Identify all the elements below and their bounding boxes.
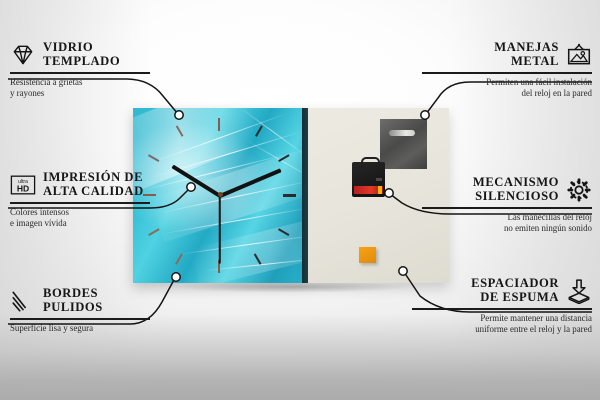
feature-espaciador-espuma: ESPACIADOR DE ESPUMA Permite mantener un… [412,277,592,335]
feature-mecanismo-silencioso: MECANISMO SILENCIOSO Las manecillas del … [422,176,592,234]
feature-title: ESPACIADOR DE ESPUMA [471,277,559,304]
feature-bordes-pulidos: BORDES PULIDOS Superficie lisa y segura [10,287,150,334]
callout-dot [187,183,195,191]
callout-dot [399,267,407,275]
feature-rule [10,202,150,204]
feature-title: VIDRIO TEMPLADO [43,41,120,68]
feature-title: MANEJAS METAL [494,41,559,68]
feature-rule [412,308,592,310]
feature-vidrio-templado: VIDRIO TEMPLADO Resistencia a grietas y … [10,41,150,99]
callout-dot [175,111,183,119]
feature-title: IMPRESIÓN DE ALTA CALIDAD [43,171,144,198]
feature-desc: Colores intensos e imagen vívida [10,207,150,229]
feature-rule [422,207,592,209]
feature-title: MECANISMO SILENCIOSO [473,176,559,203]
polished-edges-icon [10,288,36,314]
callout-dot [421,111,429,119]
diamond-icon [10,42,36,68]
feature-title: BORDES PULIDOS [43,287,103,314]
hd-label: HD [17,183,29,193]
feature-manejas-metal: MANEJAS METAL Permiten una fácil instala… [422,41,592,99]
feature-desc: Permite mantener una distancia uniforme … [412,313,592,335]
callout-dot [385,189,393,197]
infographic-canvas: VIDRIO TEMPLADO Resistencia a grietas y … [0,0,600,400]
feature-rule [422,72,592,74]
feature-desc: Superficie lisa y segura [10,323,150,334]
feature-rule [10,72,150,74]
feature-desc: Las manecillas del reloj no emiten ningú… [422,212,592,234]
feature-desc: Resistencia a grietas y rayones [10,77,150,99]
ultra-hd-icon: ultra HD [10,172,36,198]
feature-impresion-alta-calidad: ultra HD IMPRESIÓN DE ALTA CALIDAD Color… [10,171,150,229]
feature-desc: Permiten una fácil instalación del reloj… [422,77,592,99]
gear-icon [566,177,592,203]
foam-spacer-icon [566,278,592,304]
callout-dot [172,273,180,281]
feature-rule [10,318,150,320]
picture-hanger-icon [566,42,592,68]
